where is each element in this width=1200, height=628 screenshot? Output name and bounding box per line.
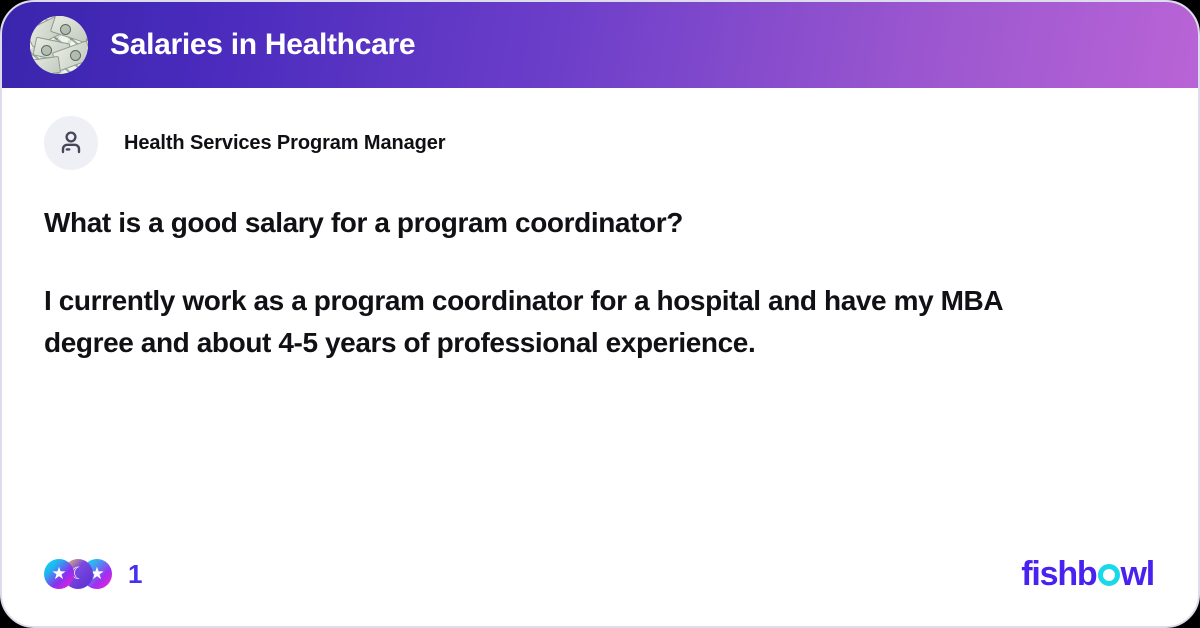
user-icon	[56, 128, 86, 158]
brand-text-part1: fishb	[1021, 555, 1096, 594]
author-name: Health Services Program Manager	[124, 132, 445, 155]
reaction-count: 1	[128, 559, 142, 590]
post-card: Salaries in Healthcare Health Services P…	[0, 0, 1200, 628]
brand-o-ring-icon	[1098, 564, 1120, 586]
fishbowl-logo: fishb wl	[1021, 555, 1154, 594]
post-text: I currently work as a program coordinato…	[44, 280, 1074, 365]
post-content: What is a good salary for a program coor…	[2, 206, 1198, 365]
author-row[interactable]: Health Services Program Manager	[2, 88, 1198, 170]
bill-shape	[30, 56, 61, 74]
reaction-stack[interactable]: ★ ☾ ★	[44, 559, 112, 589]
bill-seal-icon	[60, 24, 71, 35]
avatar[interactable]	[44, 116, 98, 170]
post-body-area: Health Services Program Manager What is …	[2, 88, 1198, 628]
bill-seal-icon	[70, 50, 81, 61]
brand-text-part2: wl	[1121, 555, 1155, 594]
reactions-group[interactable]: ★ ☾ ★ 1	[44, 559, 142, 590]
page-title: What is a good salary for a program coor…	[44, 206, 1154, 240]
bill-seal-icon	[41, 45, 52, 56]
group-title: Salaries in Healthcare	[110, 28, 415, 62]
reaction-glyph: ★	[51, 565, 66, 582]
post-footer: ★ ☾ ★ 1 fishb wl	[2, 552, 1198, 596]
star-reaction-icon[interactable]: ★	[44, 559, 74, 589]
group-header[interactable]: Salaries in Healthcare	[2, 2, 1198, 88]
group-avatar[interactable]	[30, 16, 88, 74]
